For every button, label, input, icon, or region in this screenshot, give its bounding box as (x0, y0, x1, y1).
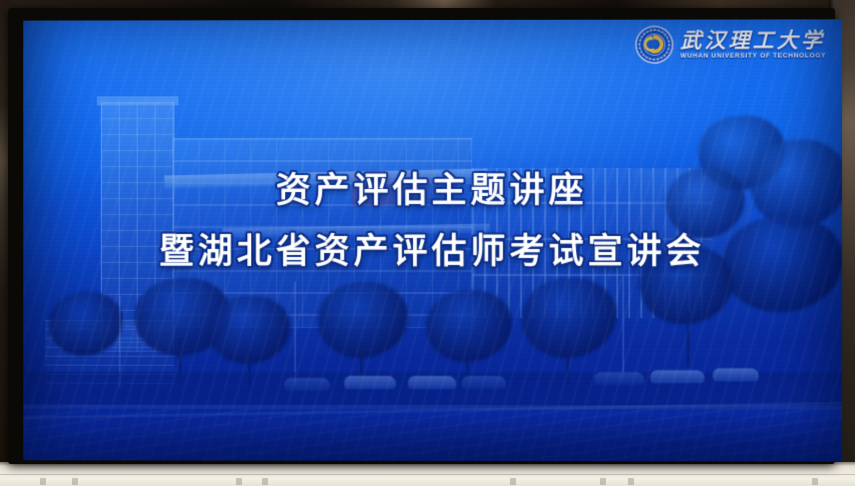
room-photograph: 武汉理工大学 WUHAN UNIVERSITY OF TECHNOLOGY 资产… (0, 0, 855, 486)
wall-mark (72, 478, 78, 485)
wall-mark (510, 478, 516, 485)
wall-mark (628, 478, 634, 485)
wall-mark (40, 478, 46, 485)
display-bezel: 武汉理工大学 WUHAN UNIVERSITY OF TECHNOLOGY 资产… (8, 8, 835, 464)
wall-mark (600, 478, 606, 485)
wall-mark (812, 478, 818, 485)
led-screen[interactable]: 武汉理工大学 WUHAN UNIVERSITY OF TECHNOLOGY 资产… (23, 19, 842, 461)
wall-seam (0, 474, 855, 475)
wall-mark (236, 478, 242, 485)
wall-mark (262, 478, 268, 485)
lower-wall (0, 462, 855, 486)
screen-vignette (23, 19, 842, 461)
